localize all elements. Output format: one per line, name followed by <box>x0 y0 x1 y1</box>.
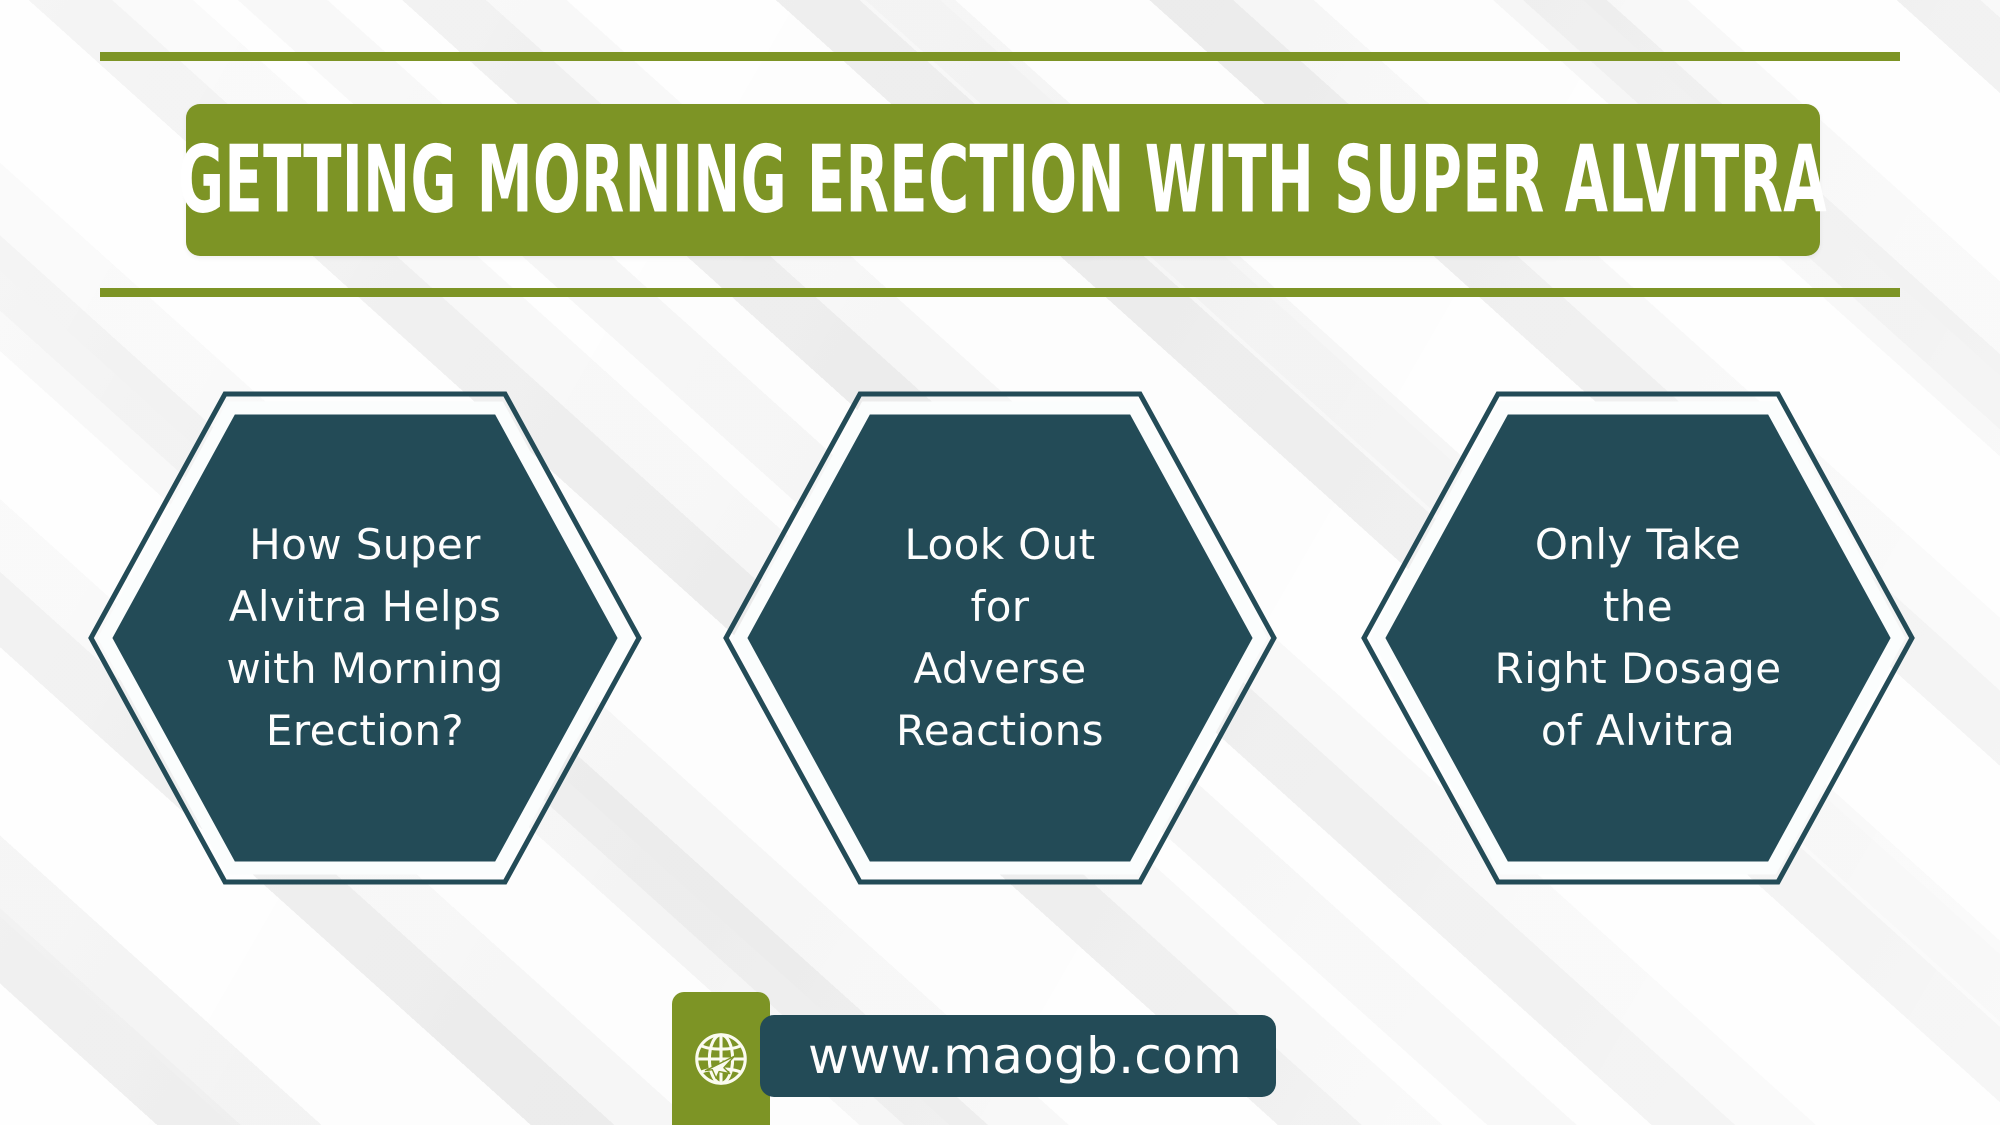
hexagon-card-3[interactable]: Only Take the Right Dosage of Alvitra <box>1358 388 1918 888</box>
top-divider <box>100 52 1900 61</box>
footer-website-bar[interactable]: www.maogb.com <box>672 992 1276 1125</box>
footer-icon-container <box>672 992 770 1125</box>
hexagon-row: How Super Alvitra Helps with Morning Ere… <box>0 388 2000 888</box>
globe-icon <box>690 1028 752 1090</box>
hexagon-label-3: Only Take the Right Dosage of Alvitra <box>1358 388 1918 888</box>
website-url[interactable]: www.maogb.com <box>808 1031 1242 1081</box>
hexagon-card-2[interactable]: Look Out for Adverse Reactions <box>720 388 1280 888</box>
footer-url-container[interactable]: www.maogb.com <box>760 1015 1276 1097</box>
hexagon-label-2: Look Out for Adverse Reactions <box>720 388 1280 888</box>
hexagon-label-1: How Super Alvitra Helps with Morning Ere… <box>85 388 645 888</box>
infographic-canvas: GETTING MORNING ERECTION WITH SUPER ALVI… <box>0 0 2000 1125</box>
title-banner: GETTING MORNING ERECTION WITH SUPER ALVI… <box>186 104 1820 256</box>
hexagon-card-1[interactable]: How Super Alvitra Helps with Morning Ere… <box>85 388 645 888</box>
page-title: GETTING MORNING ERECTION WITH SUPER ALVI… <box>178 134 1827 227</box>
bottom-divider <box>100 288 1900 297</box>
